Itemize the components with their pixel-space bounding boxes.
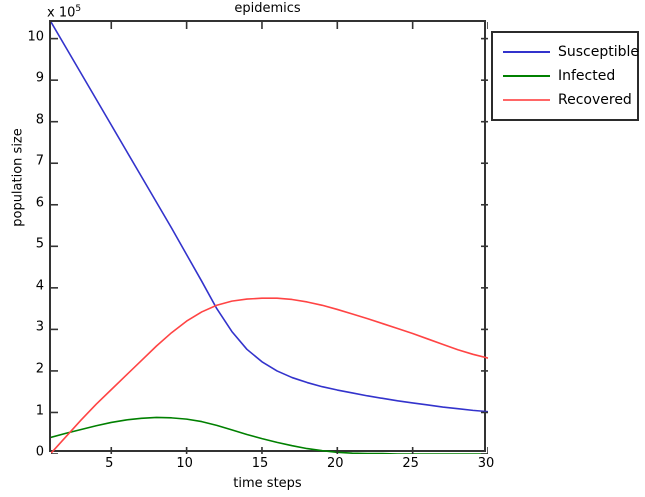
legend-label: Recovered — [558, 92, 632, 108]
legend-label: Infected — [558, 68, 615, 84]
series-line-infected — [51, 417, 488, 454]
y-axis-multiplier-exponent: 5 — [75, 4, 81, 14]
x-tick-label: 25 — [402, 456, 419, 471]
plot-lines — [51, 22, 488, 454]
y-tick-label: 0 — [14, 446, 44, 459]
legend-color-swatch — [503, 75, 550, 77]
y-tick-label: 2 — [14, 362, 44, 375]
x-tick-label: 15 — [252, 456, 269, 471]
legend-item-recovered[interactable]: Recovered — [493, 88, 637, 112]
x-axis-tick-labels: 51015202530 — [49, 456, 486, 476]
x-tick-label: 10 — [176, 456, 193, 471]
legend-color-swatch — [503, 51, 550, 53]
plot-area — [49, 20, 486, 452]
y-axis-multiplier-base: x 10 — [47, 5, 75, 20]
x-tick-label: 5 — [105, 456, 113, 471]
legend-item-susceptible[interactable]: Susceptible — [493, 40, 637, 64]
y-axis-label: population size — [11, 108, 26, 248]
y-tick-label: 10 — [14, 30, 44, 43]
legend-item-infected[interactable]: Infected — [493, 64, 637, 88]
y-tick-label: 3 — [14, 321, 44, 334]
legend-color-swatch — [503, 99, 550, 101]
y-axis-multiplier: x 105 — [47, 2, 81, 20]
figure-canvas: epidemics x 105 012345678910 51015202530… — [0, 0, 645, 497]
series-line-susceptible — [51, 22, 488, 412]
y-tick-label: 4 — [14, 279, 44, 292]
x-tick-label: 20 — [327, 456, 344, 471]
chart-title: epidemics — [49, 1, 486, 16]
legend-label: Susceptible — [558, 44, 639, 60]
x-axis-label: time steps — [49, 476, 486, 491]
x-tick-label: 30 — [478, 456, 495, 471]
series-line-recovered — [51, 298, 488, 453]
y-tick-label: 9 — [14, 72, 44, 85]
legend: SusceptibleInfectedRecovered — [491, 31, 639, 121]
y-tick-label: 1 — [14, 404, 44, 417]
